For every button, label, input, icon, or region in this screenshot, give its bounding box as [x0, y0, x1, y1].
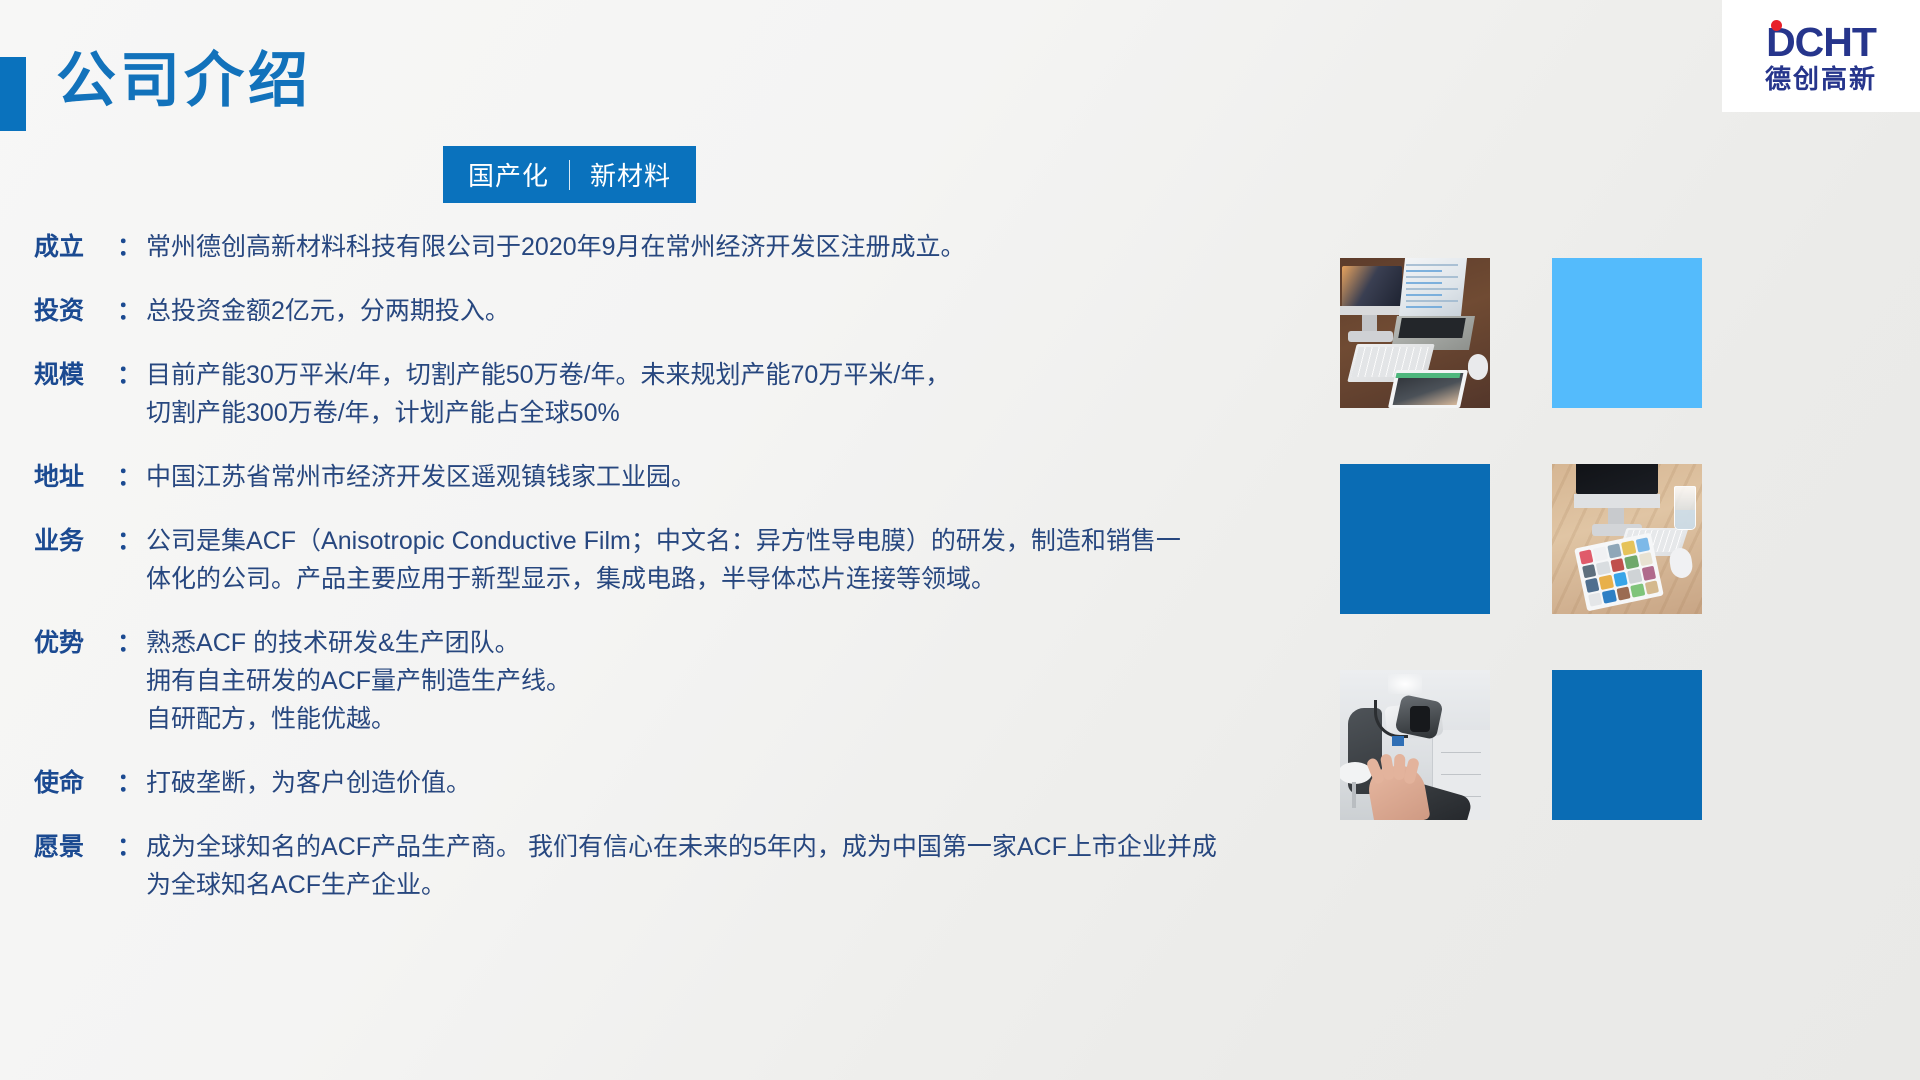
info-line: 为全球知名ACF生产企业。: [146, 866, 1324, 904]
info-colon: ：: [116, 764, 146, 802]
laptop-screen-content-lines: [1406, 264, 1458, 310]
logo-wordmark-label: DCHT: [1766, 19, 1876, 65]
tagline-divider: [569, 160, 570, 190]
info-line: 自研配方，性能优越。: [146, 700, 1324, 738]
tagline-right-label: 新材料: [590, 156, 671, 193]
media-grid: [1340, 258, 1768, 880]
imac-chin-shape: [1574, 494, 1660, 508]
imac-screen-shape: [1576, 464, 1658, 494]
equipment-head-detail: [1410, 706, 1430, 732]
media-tile-photo-desk-light: [1552, 464, 1702, 614]
info-body: 熟悉ACF 的技术研发&生产团队。 拥有自主研发的ACF量产制造生产线。 自研配…: [146, 624, 1324, 738]
info-colon: ：: [116, 228, 146, 266]
photo-light-wood-desk: [1552, 464, 1702, 614]
mouse-shape: [1468, 354, 1488, 380]
info-line: 熟悉ACF 的技术研发&生产团队。: [146, 624, 1324, 662]
imac-screen-shape: [1342, 266, 1402, 308]
media-tile-photo-clinic: [1340, 670, 1490, 820]
info-line: 目前产能30万平米/年，切割产能50万卷/年。未来规划产能70万平米/年，: [146, 356, 1324, 394]
company-logo: DCHT 德创高新: [1722, 0, 1920, 112]
media-tile-solid-dark-blue-left: [1340, 464, 1490, 614]
info-body: 公司是集ACF（Anisotropic Conductive Film；中文名：…: [146, 522, 1324, 598]
photo-clinic-equipment-hand: [1340, 670, 1490, 820]
logo-chinese-label: 德创高新: [1765, 65, 1877, 94]
info-row-scale: 规模 ： 目前产能30万平米/年，切割产能50万卷/年。未来规划产能70万平米/…: [34, 356, 1324, 432]
company-info-list: 成立 ： 常州德创高新材料科技有限公司于2020年9月在常州经济开发区注册成立。…: [34, 228, 1324, 930]
title-accent-bar: [0, 57, 26, 131]
info-body: 常州德创高新材料科技有限公司于2020年9月在常州经济开发区注册成立。: [146, 228, 1324, 266]
info-line: 中国江苏省常州市经济开发区遥观镇钱家工业园。: [146, 458, 1324, 496]
info-line: 总投资金额2亿元，分两期投入。: [146, 292, 1324, 330]
info-body: 打破垄断，为客户创造价值。: [146, 764, 1324, 802]
slide-header: 公司介绍 DCHT 德创高新: [0, 0, 1920, 150]
media-tile-photo-desk-dark: [1340, 258, 1490, 408]
info-label: 地址: [34, 458, 116, 496]
info-line: 成为全球知名的ACF产品生产商。 我们有信心在未来的5年内，成为中国第一家ACF…: [146, 828, 1324, 866]
tagline-left-label: 国产化: [468, 156, 549, 193]
imac-bezel-shape: [1340, 306, 1404, 315]
info-row-vision: 愿景 ： 成为全球知名的ACF产品生产商。 我们有信心在未来的5年内，成为中国第…: [34, 828, 1324, 904]
tagline-badge: 国产化 新材料: [443, 146, 696, 203]
imac-foot-shape: [1348, 331, 1393, 342]
clinic-stool-leg: [1352, 782, 1356, 808]
info-colon: ：: [116, 522, 146, 560]
clinic-overhead-light: [1388, 674, 1422, 694]
info-line: 切割产能300万卷/年，计划产能占全球50%: [146, 394, 1324, 432]
info-label: 优势: [34, 624, 116, 662]
info-label: 愿景: [34, 828, 116, 866]
info-label: 业务: [34, 522, 116, 560]
info-row-founding: 成立 ： 常州德创高新材料科技有限公司于2020年9月在常州经济开发区注册成立。: [34, 228, 1324, 266]
info-colon: ：: [116, 458, 146, 496]
info-label: 使命: [34, 764, 116, 802]
logo-wordmark-text: DCHT: [1766, 22, 1876, 63]
photo-desk-with-devices: [1340, 258, 1490, 408]
info-label: 成立: [34, 228, 116, 266]
info-row-investment: 投资 ： 总投资金额2亿元，分两期投入。: [34, 292, 1324, 330]
info-line: 拥有自主研发的ACF量产制造生产线。: [146, 662, 1324, 700]
info-label: 规模: [34, 356, 116, 394]
laptop-keyboard-shape: [1398, 318, 1466, 338]
tablet-screen-topbar: [1395, 373, 1460, 378]
info-body: 总投资金额2亿元，分两期投入。: [146, 292, 1324, 330]
info-line: 常州德创高新材料科技有限公司于2020年9月在常州经济开发区注册成立。: [146, 228, 1324, 266]
media-tile-solid-light-blue: [1552, 258, 1702, 408]
info-row-advantage: 优势 ： 熟悉ACF 的技术研发&生产团队。 拥有自主研发的ACF量产制造生产线…: [34, 624, 1324, 738]
info-line: 体化的公司。产品主要应用于新型显示，集成电路，半导体芯片连接等领域。: [146, 560, 1324, 598]
info-line: 打破垄断，为客户创造价值。: [146, 764, 1324, 802]
info-colon: ：: [116, 356, 146, 394]
info-row-mission: 使命 ： 打破垄断，为客户创造价值。: [34, 764, 1324, 802]
info-row-business: 业务 ： 公司是集ACF（Anisotropic Conductive Film…: [34, 522, 1324, 598]
info-row-address: 地址 ： 中国江苏省常州市经济开发区遥观镇钱家工业园。: [34, 458, 1324, 496]
glass-water-shape: [1675, 510, 1695, 529]
info-colon: ：: [116, 624, 146, 662]
media-tile-solid-dark-blue-right: [1552, 670, 1702, 820]
info-body: 成为全球知名的ACF产品生产商。 我们有信心在未来的5年内，成为中国第一家ACF…: [146, 828, 1324, 904]
info-colon: ：: [116, 292, 146, 330]
info-line: 公司是集ACF（Anisotropic Conductive Film；中文名：…: [146, 522, 1324, 560]
equipment-label-badge: [1392, 736, 1404, 746]
info-label: 投资: [34, 292, 116, 330]
info-body: 中国江苏省常州市经济开发区遥观镇钱家工业园。: [146, 458, 1324, 496]
info-colon: ：: [116, 828, 146, 866]
info-body: 目前产能30万平米/年，切割产能50万卷/年。未来规划产能70万平米/年， 切割…: [146, 356, 1324, 432]
page-title: 公司介绍: [56, 48, 312, 114]
